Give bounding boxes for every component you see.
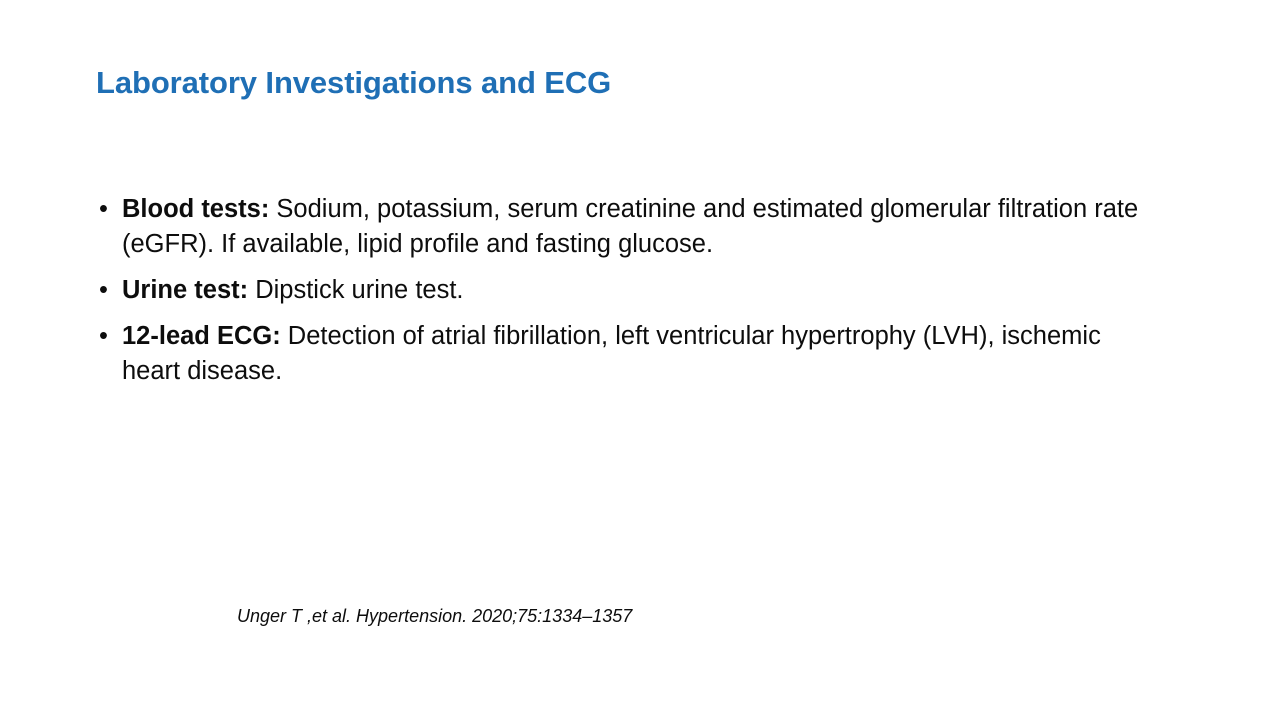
list-item: •12-lead ECG: Detection of atrial fibril… <box>96 319 1142 389</box>
bullet-marker-icon: • <box>99 319 108 354</box>
citation-reference: Unger T ,et al. Hypertension. 2020;75:13… <box>237 605 632 628</box>
list-item: •Blood tests: Sodium, potassium, serum c… <box>96 192 1142 262</box>
list-item-lead: Urine test: <box>122 276 248 304</box>
page-title: Laboratory Investigations and ECG <box>96 64 1186 101</box>
bullet-list: •Blood tests: Sodium, potassium, serum c… <box>96 192 1142 389</box>
list-item-text: Dipstick urine test. <box>248 276 463 304</box>
bullet-marker-icon: • <box>99 192 108 227</box>
list-item-lead: 12-lead ECG: <box>122 322 281 350</box>
bullet-marker-icon: • <box>99 273 108 308</box>
list-item: •Urine test: Dipstick urine test. <box>96 273 1142 308</box>
slide-canvas: Laboratory Investigations and ECG •Blood… <box>0 0 1280 720</box>
list-item-text: Sodium, potassium, serum creatinine and … <box>122 195 1138 258</box>
list-item-lead: Blood tests: <box>122 195 269 223</box>
